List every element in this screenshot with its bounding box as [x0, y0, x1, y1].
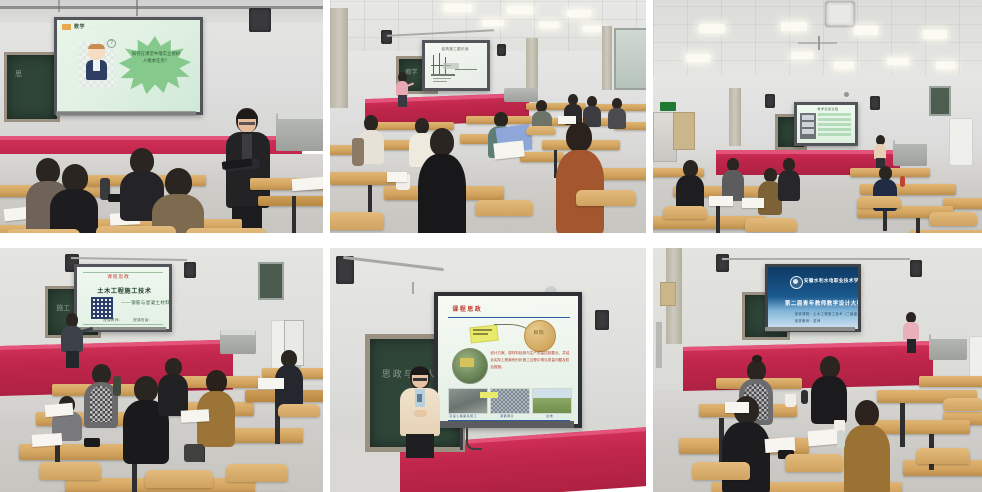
wall-speaker-icon [336, 256, 354, 284]
photo-4: 施工 课程思政 土木工程施工技术 ——钢筋与混凝土材料 授课教师： 授课班级： [0, 248, 323, 492]
attendee [158, 358, 188, 414]
qr-code [91, 297, 113, 319]
attendee [608, 98, 626, 128]
slide-header-4: 课程思政 [107, 274, 129, 280]
attendee [50, 164, 98, 233]
slide-thumb-caption-2: 钢筋网片 [500, 414, 514, 418]
photo-5: 思政与育人 课程思政 目标 [330, 248, 646, 492]
attendee [558, 122, 602, 232]
wall-speaker-icon [870, 96, 880, 110]
ceiling-speaker-icon [824, 0, 856, 28]
photo-cell-6[interactable]: 安徽水利水电职业技术学院 第二届青年教师教学设计大赛 参赛课程：土木工程施工技术… [650, 241, 982, 492]
projector-screen-6: 安徽水利水电职业技术学院 第二届青年教师教学设计大赛 参赛课程：土木工程施工技术… [765, 264, 861, 332]
air-conditioner [969, 336, 982, 378]
slide-header-5: 课程思政 [452, 304, 482, 313]
slide-title-3: 教学实施过程 [817, 107, 838, 111]
wall-speaker-icon [765, 94, 775, 108]
slide-body-5: 设计方案、原材料检测与生产质量控制要点，并结合实际工程案例分析施工过程中常见质量… [490, 350, 570, 371]
photo-cell-5[interactable]: 思政与育人 课程思政 目标 [328, 241, 650, 492]
photo-6: 安徽水利水电职业技术学院 第二届青年教师教学设计大赛 参赛课程：土木工程施工技术… [653, 248, 982, 492]
photo-cell-1[interactable]: 思 教学 . . . . ? [0, 0, 328, 241]
photo-1: 思 教学 . . . . ? [0, 0, 323, 233]
presenter-6 [903, 312, 919, 352]
presenter-5 [400, 366, 440, 456]
slide-line-1-6: 参赛课程：土木工程施工技术（二级建造师） [795, 311, 861, 316]
projector-screen-2: 结构施工图识读 [422, 40, 490, 91]
slide-institution-6: 安徽水利水电职业技术学院 [804, 278, 861, 284]
slide-subtitle-4: ——钢筋与混凝土材料 [121, 300, 170, 306]
wall-speaker-icon [497, 44, 506, 56]
photo-2: 教学 结构施工图识读 [330, 0, 646, 233]
exit-sign [660, 102, 676, 111]
projector-screen-5: 课程思政 目标 设计方案、原材料检测与生产质量控制要点，并结合实际工程案例 [434, 292, 582, 428]
presenter-2 [395, 72, 409, 106]
attendee [197, 370, 235, 446]
attendee [722, 158, 744, 200]
photo-grid: 思 教学 . . . . ? [0, 0, 982, 492]
slide-footer-right-4: 授课班级： [133, 317, 152, 322]
projector-screen-1: 教学 . . . . ? 如何在课堂中落实立德树人根本任务？ [54, 17, 203, 115]
presenter-4 [61, 313, 83, 367]
air-conditioner [949, 118, 973, 166]
attendee [811, 356, 847, 422]
slide-burst-text: 如何在课堂中落实立德树人根本任务？ [131, 50, 181, 64]
photo-cell-2[interactable]: 教学 结构施工图识读 [328, 0, 650, 241]
projector-screen-3: 教学实施过程 [794, 102, 858, 146]
photo-cell-4[interactable]: 施工 课程思政 土木工程施工技术 ——钢筋与混凝土材料 授课教师： 授课班级： [0, 241, 328, 492]
window [929, 86, 951, 116]
attendee [676, 160, 704, 212]
wall-speaker-icon [910, 260, 922, 277]
attendee [778, 158, 800, 200]
photo-cell-3[interactable]: 教学实施过程 [650, 0, 982, 241]
projector-screen-4: 课程思政 土木工程施工技术 ——钢筋与混凝土材料 授课教师： 授课班级： [74, 264, 172, 332]
blackboard: 思 [4, 52, 60, 122]
slide-title-2: 结构施工图识读 [442, 46, 469, 51]
wall-speaker-icon [381, 30, 392, 44]
slide-thumb-caption-3: 边坡 [546, 414, 553, 418]
slide-thumb [532, 388, 572, 414]
slide-line-2-6: 参赛教师：讲师 [795, 318, 821, 323]
attendee [422, 128, 462, 233]
slide-legend-panel [800, 113, 816, 139]
window [258, 262, 284, 300]
presenter-3 [873, 135, 887, 169]
ceiling-speaker-icon [249, 8, 271, 32]
window [614, 28, 646, 90]
wall-speaker-icon [716, 254, 729, 272]
attendee [152, 168, 204, 233]
photo-3: 教学实施过程 [653, 0, 982, 233]
attendee [844, 400, 890, 492]
slide-title-4: 土木工程施工技术 [97, 286, 151, 295]
wall-speaker-icon [184, 262, 196, 278]
slide-footer-left-4: 授课教师： [103, 317, 122, 322]
presenter-1 [222, 108, 274, 233]
slide-thumb-caption-1: 高速公路路基施工 [449, 414, 477, 418]
slide-header-label: 教学 [74, 23, 85, 30]
wall-speaker-icon [595, 310, 609, 330]
slide-title-6: 第二届青年教师教学设计大赛 [785, 299, 861, 307]
